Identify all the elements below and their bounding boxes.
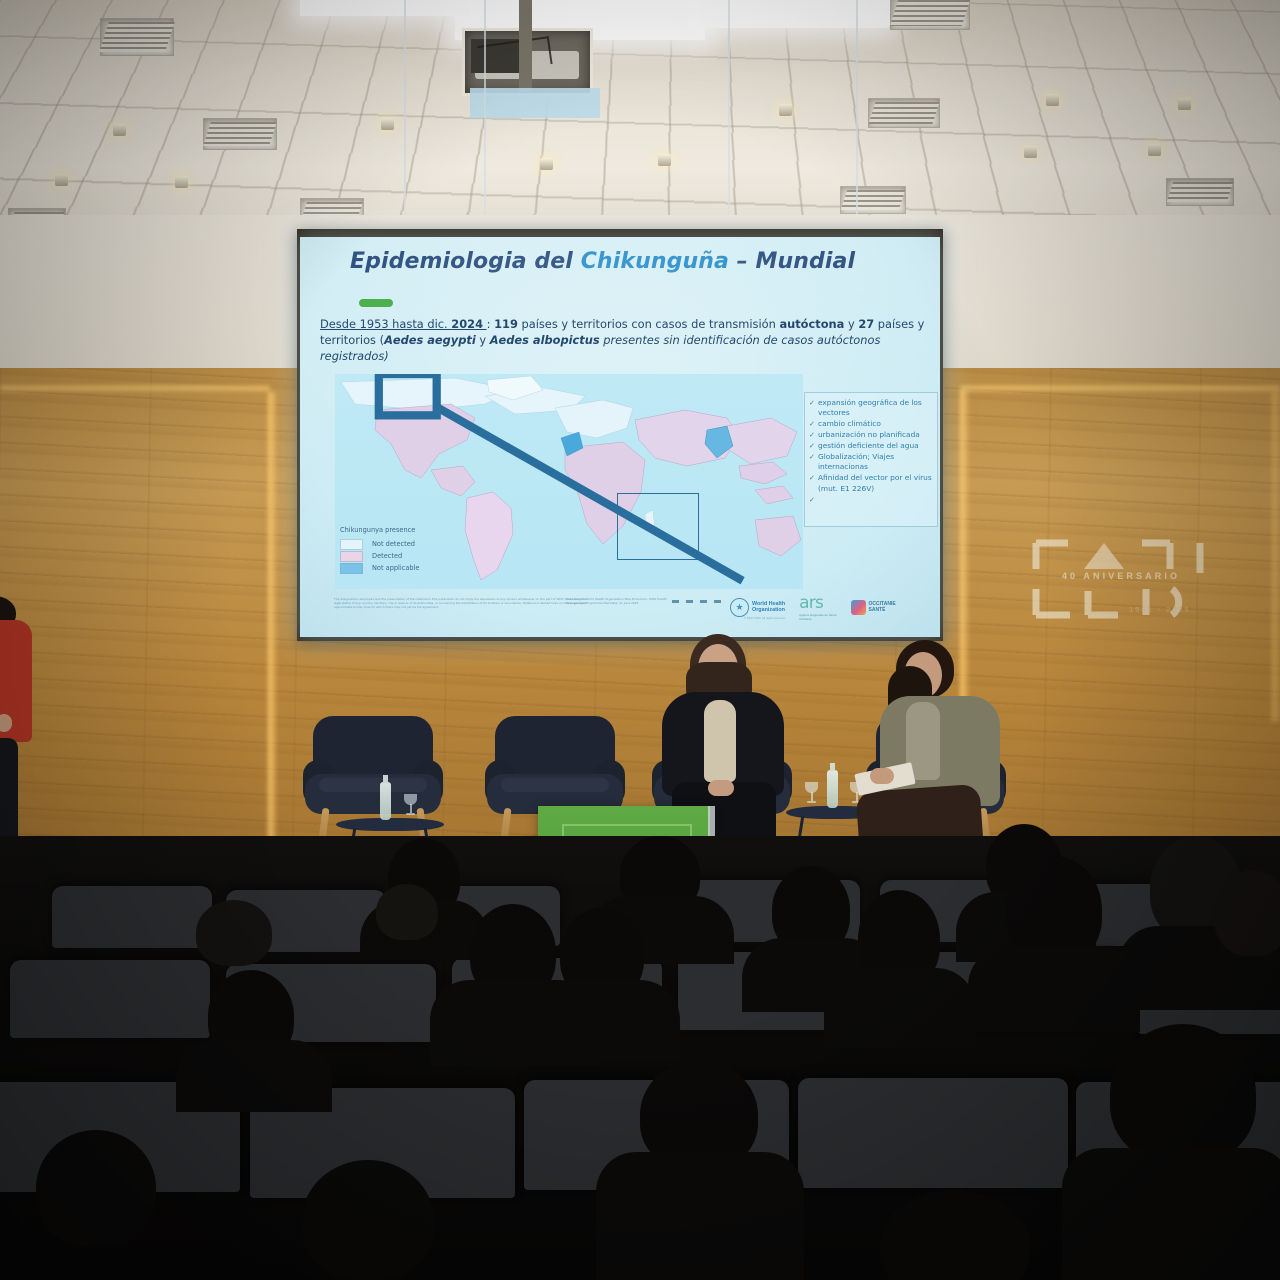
factor-item: ✓gestión deficiente del agua (809, 441, 933, 451)
check-icon: ✓ (809, 452, 818, 473)
check-icon: ✓ (809, 441, 818, 451)
hands (870, 768, 894, 784)
ceiling-downlight (540, 158, 553, 170)
skylight (300, 0, 470, 16)
slide-title-plain: Epidemiologia del (350, 249, 581, 274)
factor-label (818, 495, 933, 505)
world-map: Chikungunya presence Not detected Detect… (335, 374, 803, 589)
audience-shoulders (528, 980, 680, 1060)
audience-head (1214, 870, 1280, 956)
audience-head (376, 884, 438, 940)
check-icon: ✓ (809, 473, 818, 494)
green-bullet-dash (359, 299, 393, 307)
occitanie-mark-icon (851, 600, 866, 615)
audience-shoulders (968, 946, 1140, 1032)
factor-item: ✓urbanización no planificada (809, 430, 933, 440)
occitanie-sante-logo: OCCITANIE SANTÉ (851, 600, 896, 615)
ceiling-hanger-rod (856, 0, 858, 214)
ceiling-downlight (1046, 94, 1059, 106)
factor-item: ✓expansión geográfica de los vectores (809, 398, 933, 419)
slide-title: Epidemiologia del Chikunguña – Mundial (350, 249, 910, 274)
led-cove-light (268, 392, 277, 862)
hvac-vent (890, 0, 970, 30)
water-glass (404, 794, 417, 816)
led-cove-light (960, 386, 1280, 393)
audience-head-foreground (302, 1160, 434, 1280)
occ-line2: SANTÉ (869, 607, 896, 613)
check-icon: ✓ (809, 495, 818, 505)
legend-item: Detected (340, 550, 419, 562)
legend-swatch-not-detected (340, 539, 363, 550)
audience-head-foreground (1110, 1024, 1256, 1164)
slide-body-text: Desde 1953 hasta dic. 2024 : 119 países … (320, 316, 932, 364)
factor-label: Globalización; Viajes internacionas (818, 452, 933, 473)
map-inset-box (617, 493, 699, 560)
ceiling-downlight (381, 118, 394, 130)
map-legend: Chikungunya presence Not detected Detect… (340, 526, 419, 574)
check-icon: ✓ (809, 430, 818, 440)
water-bottle (380, 782, 391, 820)
auditorium-photo: 40 ANIVERSARIO 1985 - 2025 Epidemiologia… (0, 0, 1280, 1280)
slide-title-tail: – Mundial (729, 249, 855, 274)
easp-wall-logo: 40 ANIVERSARIO 1985 - 2025 (1022, 527, 1218, 627)
legend-label: Detected (372, 552, 402, 560)
seat-back (10, 960, 210, 1038)
hvac-vent (868, 98, 940, 128)
ars-text: ars (799, 593, 836, 613)
legend-item: Not applicable (340, 562, 419, 574)
ceiling-downlight (1178, 98, 1191, 110)
legend-swatch-not-applicable (340, 563, 363, 574)
ceiling-downlight (779, 104, 792, 116)
ceiling-hanger-rod (484, 0, 486, 218)
ceiling-downlight (1148, 144, 1161, 156)
factor-label: urbanización no planificada (818, 430, 933, 440)
ars-wordmark: ars Agence Régionale de Santé Occitanie (799, 593, 836, 621)
factor-label: cambio climático (818, 419, 933, 429)
water-bottle (827, 770, 838, 808)
easp-anniversary-text: 40 ANIVERSARIO (1036, 571, 1206, 581)
who-emblem-icon: ★ (730, 598, 749, 617)
who-logo: ★ World Health Organization (730, 598, 785, 617)
audience-shoulders (596, 1152, 804, 1280)
factor-item: ✓ (809, 495, 933, 505)
ceiling-downlight (113, 124, 126, 136)
factor-label: gestión deficiente del agua (818, 441, 933, 451)
factor-label: Afinidad del vector por el virus (mut. E… (818, 473, 933, 494)
hvac-vent (203, 118, 277, 150)
check-icon: ✓ (809, 398, 818, 419)
audience-shoulders (824, 968, 976, 1048)
legend-swatch-detected (340, 551, 363, 562)
map-disclaimer: The designations employed and the presen… (334, 597, 594, 609)
ars-sub2: Occitanie (799, 617, 836, 621)
map-scale-bar (672, 600, 728, 603)
legend-title: Chikungunya presence (340, 526, 419, 534)
factor-item: ✓cambio climático (809, 419, 933, 429)
who-rights-text: © WHO 2025. All rights reserved. (744, 616, 785, 620)
audience-head-foreground (36, 1130, 156, 1246)
audience-shoulders (1062, 1148, 1280, 1280)
seat-back (52, 886, 212, 948)
slide-title-highlight: Chikunguña (581, 249, 729, 274)
water-glass (805, 782, 818, 804)
factor-item: ✓Afinidad del vector por el virus (mut. … (809, 473, 933, 494)
legend-label: Not applicable (372, 564, 419, 572)
check-icon: ✓ (809, 419, 818, 429)
who-line2: Organization (752, 607, 785, 613)
projector-trim-plate (470, 88, 600, 118)
factor-label: expansión geográfica de los vectores (818, 398, 933, 419)
ars-logo: ars Agence Régionale de Santé Occitanie (799, 593, 836, 621)
inner-top (704, 700, 736, 782)
ceiling-hanger-rod (728, 0, 730, 216)
who-logo-text: World Health Organization (752, 601, 785, 613)
occitanie-logo-text: OCCITANIE SANTÉ (869, 601, 896, 613)
ceiling (0, 0, 1280, 240)
audience-shoulders (176, 1040, 332, 1112)
easp-years-text: 1985 - 2025 (1108, 607, 1212, 614)
led-cove-light (1272, 392, 1280, 722)
ceiling-downlight (175, 176, 188, 188)
ceiling-downlight (658, 154, 671, 166)
legend-label: Not detected (372, 540, 415, 548)
ceiling-downlight (55, 174, 68, 186)
legend-item: Not detected (340, 538, 419, 550)
ceiling-support-post (519, 0, 532, 92)
ceiling-hanger-rod (404, 0, 406, 222)
led-cove-light (0, 386, 270, 393)
hvac-vent (100, 18, 174, 56)
audience-head (196, 900, 272, 966)
seat-back (798, 1078, 1068, 1188)
ceiling-downlight (1024, 146, 1037, 158)
hvac-vent (1166, 178, 1234, 206)
risk-factors-panel: ✓expansión geográfica de los vectores ✓c… (804, 392, 938, 527)
factor-item: ✓Globalización; Viajes internacionas (809, 452, 933, 473)
hvac-vent (840, 186, 906, 214)
map-data-source: Data Source: World Health Organization M… (566, 597, 686, 605)
scale-bar-graphic (672, 600, 728, 603)
hands (708, 780, 734, 796)
